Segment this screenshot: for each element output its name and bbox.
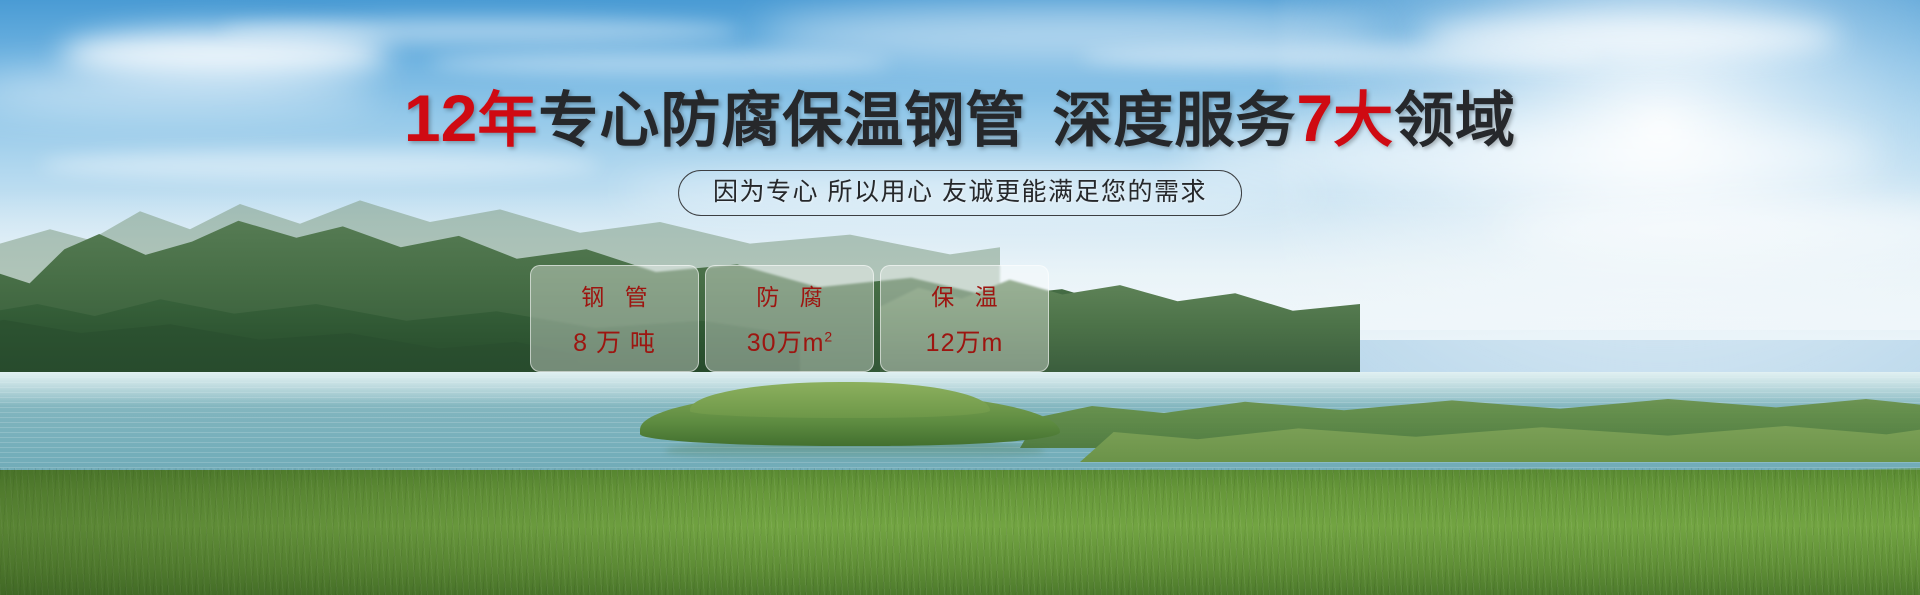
banner-content: 12年专心防腐保温钢管深度服务7大领域 因为专心 所以用心 友诚更能满足您的需求… xyxy=(0,0,1920,595)
stat-card-label: 保 温 xyxy=(924,278,1004,312)
stat-card-value-main: 8 万 吨 xyxy=(573,329,656,357)
stat-card-anticorrosion: 防 腐 30万m2 xyxy=(705,265,874,372)
stat-card-label: 防 腐 xyxy=(749,278,829,312)
subtitle-pill: 因为专心 所以用心 友诚更能满足您的需求 xyxy=(678,170,1242,216)
headline-fields-text: 领域 xyxy=(1394,87,1516,154)
headline-fields-unit: 大 xyxy=(1333,87,1394,154)
stat-card-label: 钢 管 xyxy=(574,278,654,312)
stat-card-value-superscript: 2 xyxy=(824,329,832,345)
promo-banner: 12年专心防腐保温钢管深度服务7大领域 因为专心 所以用心 友诚更能满足您的需求… xyxy=(0,0,1920,595)
headline: 12年专心防腐保温钢管深度服务7大领域 xyxy=(0,86,1920,153)
stat-card-value-main: 30万m xyxy=(747,329,825,357)
stat-card-value: 8 万 吨 xyxy=(573,323,656,359)
headline-service-text: 深度服务 xyxy=(1052,87,1296,154)
stat-card-steel-pipe: 钢 管 8 万 吨 xyxy=(530,265,699,372)
stat-card-value: 30万m2 xyxy=(747,323,832,359)
stat-card-list: 钢 管 8 万 吨 防 腐 30万m2 保 温 12万m xyxy=(530,265,1049,372)
headline-fields-number: 7 xyxy=(1296,81,1333,155)
headline-main-text: 专心防腐保温钢管 xyxy=(538,87,1026,154)
stat-card-value-main: 12万m xyxy=(926,329,1004,357)
stat-card-insulation: 保 温 12万m xyxy=(880,265,1049,372)
stat-card-value: 12万m xyxy=(926,323,1004,359)
headline-years-unit: 年 xyxy=(477,87,538,154)
headline-years-number: 12 xyxy=(404,81,477,155)
